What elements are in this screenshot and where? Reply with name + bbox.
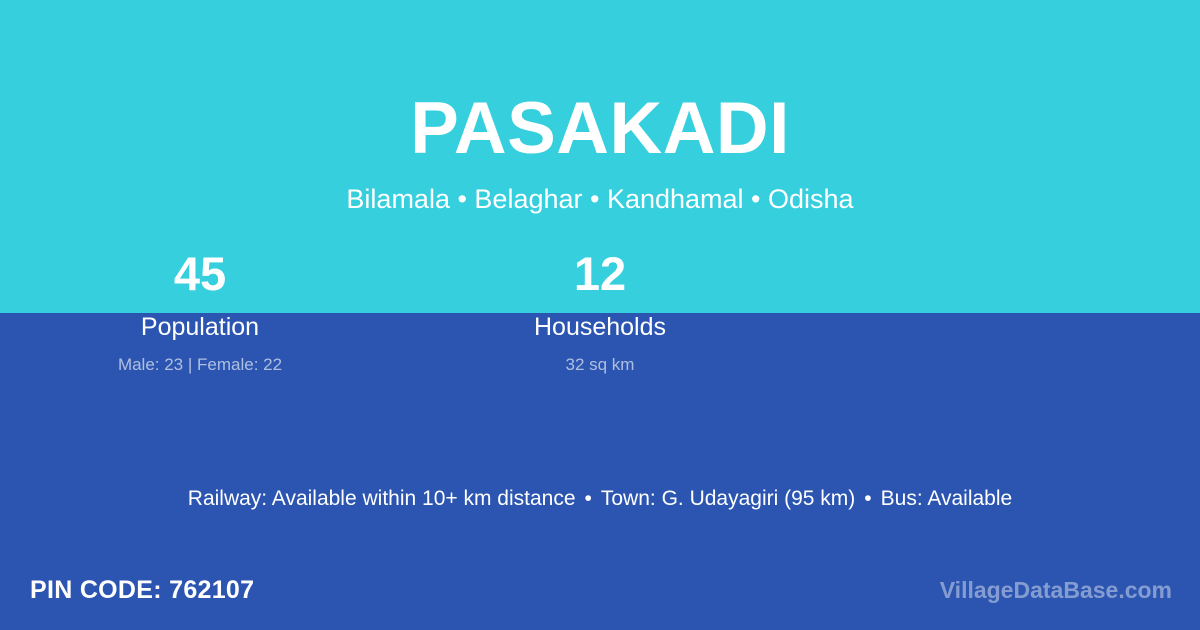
village-info-card: PASAKADI Bilamala • Belaghar • Kandhamal…	[0, 0, 1200, 630]
card-footer: PIN CODE: 762107 VillageDataBase.com	[0, 572, 1200, 612]
amenity-separator-2: •	[855, 485, 880, 513]
stat-block-population: 45 Population Male: 23 | Female: 22	[0, 246, 400, 375]
amenities-line: Railway: Available within 10+ km distanc…	[0, 485, 1200, 513]
population-label: Population	[0, 313, 400, 342]
households-value: 12	[400, 246, 800, 302]
population-gender-breakdown: Male: 23 | Female: 22	[0, 354, 400, 375]
households-label: Households	[400, 313, 800, 342]
population-value: 45	[0, 246, 400, 302]
amenity-town: Town: G. Udayagiri (95 km)	[601, 487, 855, 510]
amenity-railway: Railway: Available within 10+ km distanc…	[188, 487, 576, 510]
stat-block-households: 12 Households 32 sq km	[400, 246, 800, 375]
site-brand-label: VillageDataBase.com	[940, 574, 1172, 607]
area-value: 32 sq km	[400, 354, 800, 375]
amenity-bus: Bus: Available	[881, 487, 1013, 510]
breadcrumb: Bilamala • Belaghar • Kandhamal • Odisha	[0, 182, 1200, 216]
page-title: PASAKADI	[0, 83, 1200, 175]
stats-row: 45 Population Male: 23 | Female: 22 12 H…	[0, 246, 800, 375]
pin-code-label: PIN CODE: 762107	[30, 572, 254, 608]
amenity-separator-1: •	[576, 485, 601, 513]
